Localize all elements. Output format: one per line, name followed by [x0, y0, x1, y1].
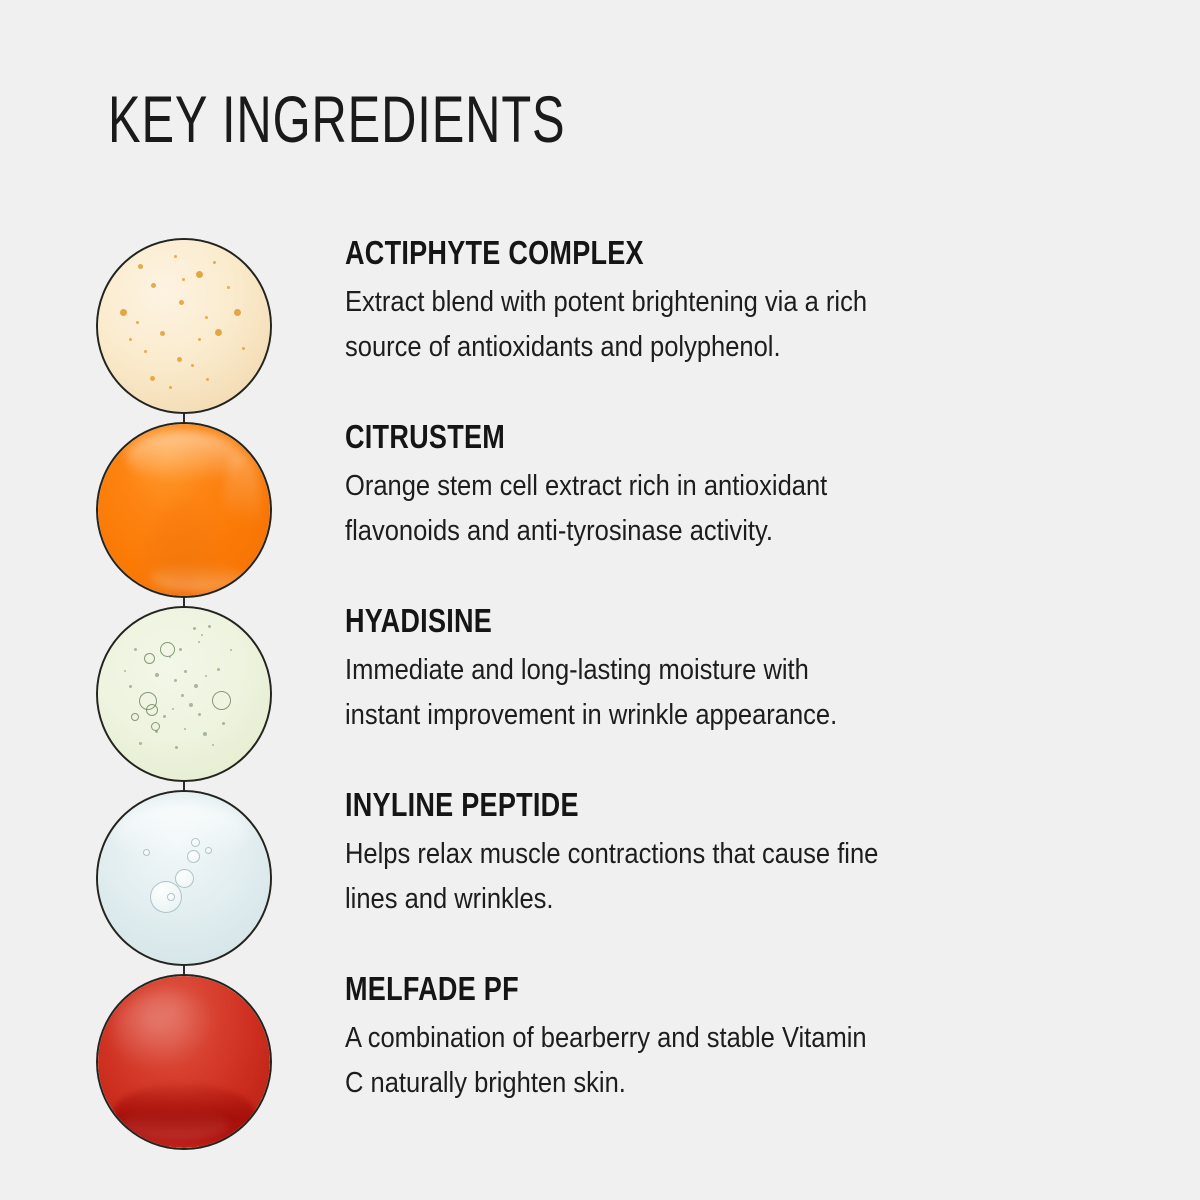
gloss-highlight-bottom: [150, 563, 245, 591]
ingredient-name: INYLINE PEPTIDE: [345, 788, 968, 823]
description-line: Helps relax muscle contractions that cau…: [345, 832, 1102, 878]
description-line: instant improvement in wrinkle appearanc…: [345, 693, 1102, 739]
swatch-texture-green-gel: [98, 608, 270, 780]
ingredient-name: CITRUSTEM: [345, 420, 968, 455]
ingredient-description: Orange stem cell extract rich in antioxi…: [345, 464, 1102, 556]
description-line: A combination of bearberry and stable Vi…: [345, 1016, 1102, 1062]
ingredient-description: A combination of bearberry and stable Vi…: [345, 1016, 1102, 1108]
ingredient-item-inyline-peptide: INYLINE PEPTIDE Helps relax muscle contr…: [345, 788, 1105, 923]
citrustem-swatch: [96, 422, 272, 598]
ingredient-description: Immediate and long-lasting moisture with…: [345, 648, 1102, 740]
inyline-peptide-swatch: [96, 790, 272, 966]
ingredient-description: Helps relax muscle contractions that cau…: [345, 832, 1102, 924]
description-line: lines and wrinkles.: [345, 877, 1102, 923]
ingredient-name: MELFADE PF: [345, 972, 968, 1007]
ingredient-name: ACTIPHYTE COMPLEX: [345, 236, 968, 271]
gloss-highlight-right: [224, 452, 262, 552]
description-line: source of antioxidants and polyphenol.: [345, 325, 1102, 371]
description-line: Extract blend with potent brightening vi…: [345, 280, 1102, 326]
ingredient-item-actiphyte-complex: ACTIPHYTE COMPLEX Extract blend with pot…: [345, 236, 1105, 371]
gloss-highlight-top-left: [112, 990, 219, 1073]
page-title: KEY INGREDIENTS: [108, 86, 566, 152]
description-line: flavonoids and anti-tyrosinase activity.: [345, 509, 1102, 555]
ingredient-description: Extract blend with potent brightening vi…: [345, 280, 1102, 372]
key-ingredients-infographic: KEY INGREDIENTS: [0, 0, 1200, 1200]
ingredient-name: HYADISINE: [345, 604, 968, 639]
bottom-sheen: [122, 1107, 229, 1141]
gloss-highlight-top: [126, 431, 243, 483]
sheen-highlight: [115, 802, 249, 860]
ingredient-item-hyadisine: HYADISINE Immediate and long-lasting moi…: [345, 604, 1105, 739]
swatch-texture-orange: [98, 424, 270, 596]
actiphyte-complex-swatch: [96, 238, 272, 414]
ingredient-item-citrustem: CITRUSTEM Orange stem cell extract rich …: [345, 420, 1105, 555]
hyadisine-swatch: [96, 606, 272, 782]
swatch-texture-cream: [98, 240, 270, 412]
swatch-texture-red-gel: [98, 976, 270, 1148]
description-line: Immediate and long-lasting moisture with: [345, 648, 1102, 694]
description-line: C naturally brighten skin.: [345, 1061, 1102, 1107]
melfade-pf-swatch: [96, 974, 272, 1150]
description-line: Orange stem cell extract rich in antioxi…: [345, 464, 1102, 510]
swatch-texture-blue-serum: [98, 792, 270, 964]
swatch-column: [96, 238, 276, 1128]
ingredient-item-melfade-pf: MELFADE PF A combination of bearberry an…: [345, 972, 1105, 1107]
